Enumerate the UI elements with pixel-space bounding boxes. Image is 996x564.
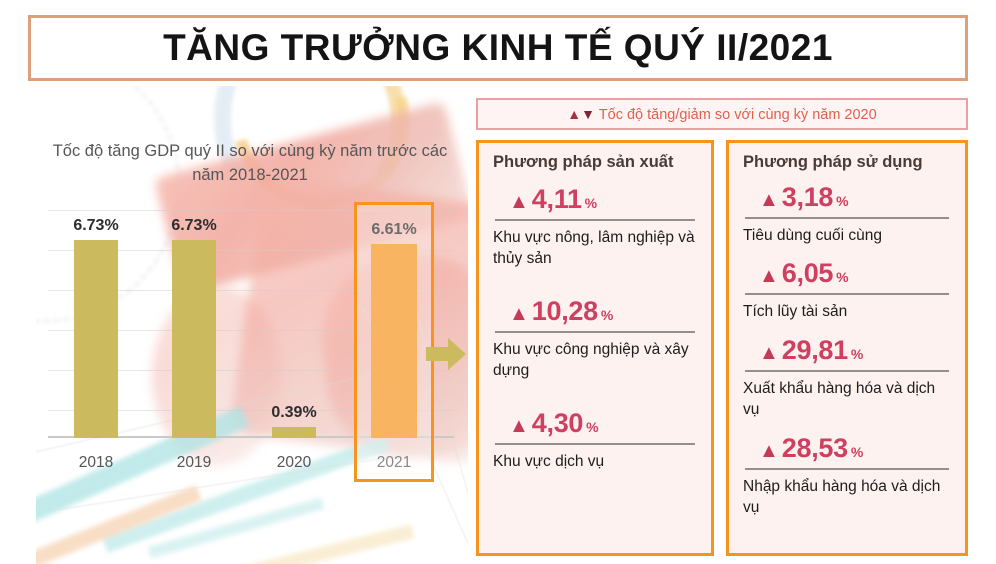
- metric-value: 6,05: [782, 258, 833, 289]
- bar-column[interactable]: 6.73%: [58, 217, 134, 438]
- metric-unit: %: [836, 193, 848, 209]
- metric-divider: [745, 370, 949, 372]
- bar[interactable]: [172, 240, 216, 438]
- metric-label: Xuất khẩu hàng hóa và dịch vụ: [743, 378, 951, 421]
- metric-item: ▲ 4,11 % Khu vực nông, lâm nghiệp và thủ…: [493, 178, 697, 270]
- metric-unit: %: [601, 307, 613, 323]
- panel-title: Phương pháp sản xuất: [493, 153, 697, 172]
- legend-banner: ▲▼ Tốc độ tăng/giảm so với cùng kỳ năm 2…: [476, 98, 968, 130]
- chart-title: Tốc độ tăng GDP quý II so với cùng kỳ nă…: [40, 140, 460, 188]
- metric-value-row: ▲ 4,30 %: [493, 408, 697, 439]
- bar-value-label: 0.39%: [271, 404, 316, 422]
- bar-category-label: 2020: [256, 454, 332, 472]
- bar-column[interactable]: 6.73%: [156, 217, 232, 438]
- bar-category-label: 2018: [58, 454, 134, 472]
- metric-value: 28,53: [782, 433, 848, 464]
- bar-column[interactable]: 0.39%: [256, 404, 332, 438]
- metric-unit: %: [585, 195, 597, 211]
- metric-item: ▲ 6,05 % Tích lũy tài sản: [743, 246, 951, 322]
- metric-divider: [495, 443, 695, 445]
- metric-value-row: ▲ 29,81 %: [743, 335, 951, 366]
- metric-unit: %: [586, 419, 598, 435]
- metric-label: Nhập khẩu hàng hóa và dịch vụ: [743, 476, 951, 519]
- metric-label: Khu vực công nghiệp và xây dựng: [493, 339, 697, 382]
- triangle-up-icon: ▲: [759, 441, 779, 461]
- triangle-up-icon: ▲: [567, 106, 581, 122]
- metric-value: 10,28: [532, 296, 598, 327]
- panel-usage-method: Phương pháp sử dụng ▲ 3,18 % Tiêu dùng c…: [726, 140, 968, 556]
- metric-label: Tích lũy tài sản: [743, 301, 951, 322]
- metric-item: ▲ 4,30 % Khu vực dịch vụ: [493, 382, 697, 472]
- gdp-bar-chart: Tốc độ tăng GDP quý II so với cùng kỳ nă…: [40, 140, 460, 500]
- metric-item: ▲ 3,18 % Tiêu dùng cuối cùng: [743, 178, 951, 246]
- triangle-up-icon: ▲: [509, 416, 529, 436]
- metric-unit: %: [836, 269, 848, 285]
- page-title-box: TĂNG TRƯỞNG KINH TẾ QUÝ II/2021: [28, 15, 968, 81]
- metric-value: 4,30: [532, 408, 583, 439]
- legend-text-body: Tốc độ tăng/giảm so với cùng kỳ năm 2020: [599, 107, 877, 123]
- metric-label: Tiêu dùng cuối cùng: [743, 225, 951, 246]
- metric-divider: [745, 293, 949, 295]
- metric-unit: %: [851, 346, 863, 362]
- bar-value-label: 6.73%: [171, 217, 216, 235]
- triangle-up-icon: ▲: [759, 343, 779, 363]
- metric-divider: [495, 219, 695, 221]
- triangle-up-icon: ▲: [509, 304, 529, 324]
- metric-item: ▲ 29,81 % Xuất khẩu hàng hóa và dịch vụ: [743, 323, 951, 421]
- metric-item: ▲ 28,53 % Nhập khẩu hàng hóa và dịch vụ: [743, 421, 951, 519]
- bar-value-label: 6.73%: [73, 217, 118, 235]
- metric-unit: %: [851, 444, 863, 460]
- page-title: TĂNG TRƯỞNG KINH TẾ QUÝ II/2021: [163, 27, 833, 69]
- panel-title: Phương pháp sử dụng: [743, 153, 951, 172]
- arrow-right-icon: [424, 333, 468, 375]
- bar-category-label: 2019: [156, 454, 232, 472]
- triangle-up-icon: ▲: [759, 266, 779, 286]
- metric-value: 29,81: [782, 335, 848, 366]
- metric-item: ▲ 10,28 % Khu vực công nghiệp và xây dựn…: [493, 270, 697, 382]
- bar[interactable]: [74, 240, 118, 438]
- metric-value-row: ▲ 28,53 %: [743, 433, 951, 464]
- metric-divider: [495, 331, 695, 333]
- metric-value-row: ▲ 6,05 %: [743, 258, 951, 289]
- triangle-up-icon: ▲: [759, 190, 779, 210]
- metric-divider: [745, 468, 949, 470]
- chart-plot-area: 6.73% 2018 6.73% 2019 0.39% 2020 6.61% 2…: [40, 196, 460, 486]
- panel-production-method: Phương pháp sản xuất ▲ 4,11 % Khu vực nô…: [476, 140, 714, 556]
- metric-value: 4,11: [532, 184, 582, 215]
- metric-label: Khu vực dịch vụ: [493, 451, 697, 472]
- triangle-up-icon: ▲: [509, 192, 529, 212]
- metric-value: 3,18: [782, 182, 833, 213]
- metric-value-row: ▲ 3,18 %: [743, 182, 951, 213]
- bar[interactable]: [272, 427, 316, 438]
- metric-divider: [745, 217, 949, 219]
- metric-value-row: ▲ 10,28 %: [493, 296, 697, 327]
- highlight-box-2021: [354, 202, 434, 482]
- legend-label: ▲▼ Tốc độ tăng/giảm so với cùng kỳ năm 2…: [567, 106, 876, 123]
- triangle-down-icon: ▼: [581, 106, 595, 122]
- metric-label: Khu vực nông, lâm nghiệp và thủy sản: [493, 227, 697, 270]
- metric-value-row: ▲ 4,11 %: [493, 184, 697, 215]
